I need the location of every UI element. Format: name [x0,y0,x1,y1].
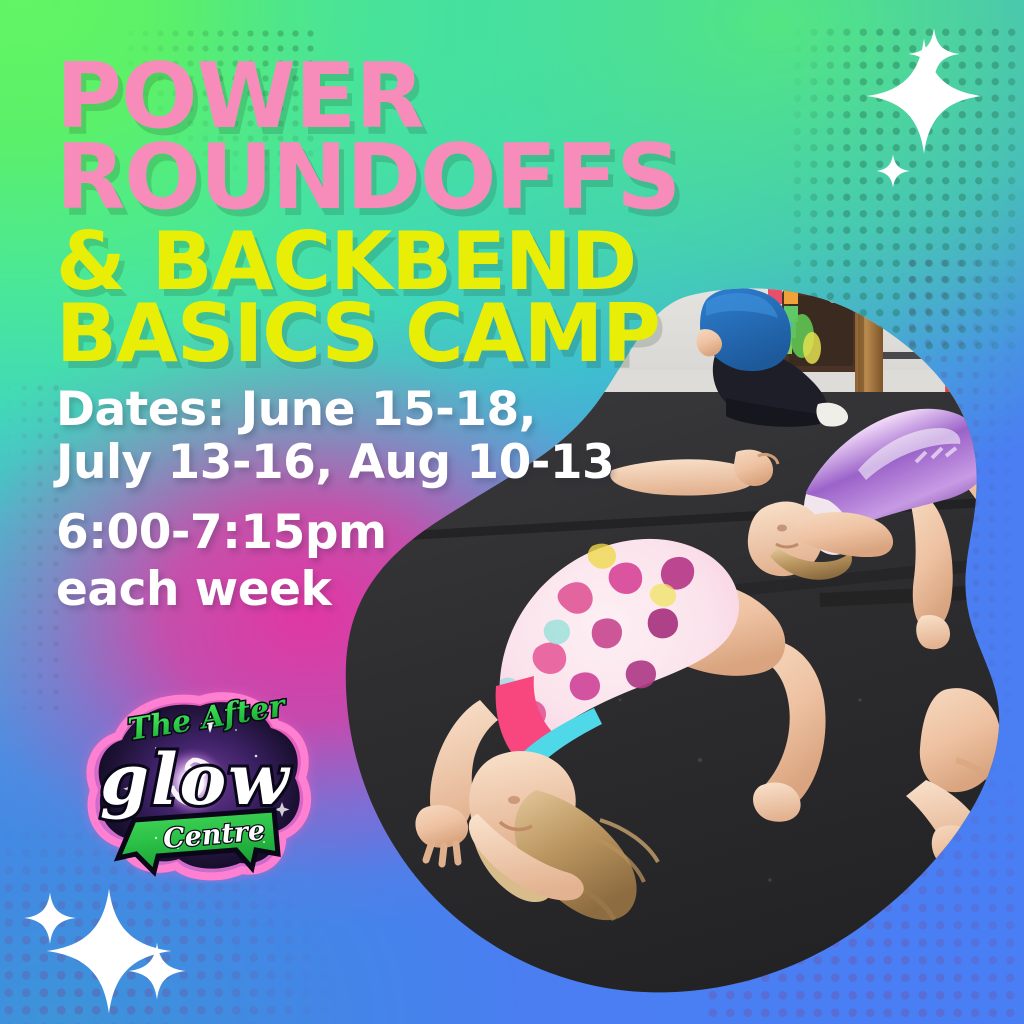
headline-line-2: ROUNDOFFS [56,137,700,218]
details-block: Dates: June 15-18, July 13-16, Aug 10-13… [0,370,700,617]
dates-line-2: July 13-16, Aug 10-13 [56,437,700,490]
poster-copy: POWER ROUNDOFFS & BACKBEND BASICS CAMP D… [0,0,700,617]
time-line: 6:00-7:15pm [56,507,700,560]
promo-poster: POWER ROUNDOFFS & BACKBEND BASICS CAMP D… [0,0,1024,1024]
headline-line-4: BASICS CAMP [56,298,700,370]
headline: POWER ROUNDOFFS & BACKBEND BASICS CAMP [0,56,700,370]
afterglow-centre-logo[interactable]: The After glow Centre [60,678,330,883]
dates-line-1: Dates: June 15-18, [56,384,700,437]
frequency-line: each week [56,564,700,617]
